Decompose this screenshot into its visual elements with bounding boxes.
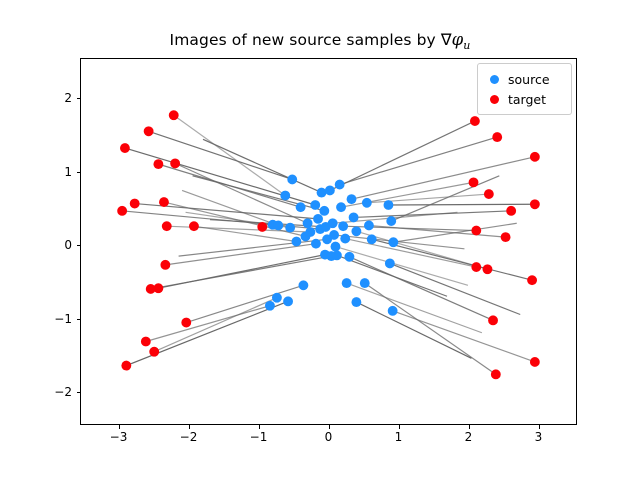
matplotlib-figure: Images of new source samples by ∇φu −3−2… [0, 0, 640, 480]
data-point-target [159, 197, 169, 207]
connection-line [390, 263, 520, 314]
data-points-layer [117, 110, 540, 379]
connection-line [391, 176, 499, 221]
connection-line [165, 244, 316, 265]
y-tickmark [77, 245, 81, 246]
x-tickmark [539, 425, 540, 429]
data-point-source [319, 206, 329, 216]
data-point-target [484, 189, 494, 199]
legend-entry-target[interactable]: target [484, 89, 564, 109]
data-point-source [388, 306, 398, 316]
data-point-target [144, 126, 154, 136]
source-marker-icon [490, 75, 499, 84]
data-point-target [141, 337, 151, 347]
data-point-source [317, 188, 327, 198]
data-point-source [305, 227, 315, 237]
y-tickmark [77, 392, 81, 393]
x-tickmark [399, 425, 400, 429]
data-point-target [527, 275, 537, 285]
data-point-source [344, 252, 354, 262]
x-tick-label: 3 [535, 430, 543, 444]
data-point-source [385, 258, 395, 268]
x-tickmark [119, 425, 120, 429]
connection-line [154, 298, 277, 352]
data-point-target [530, 199, 540, 209]
connection-line [174, 115, 286, 195]
data-point-source [298, 280, 308, 290]
data-point-target [130, 199, 140, 209]
data-point-source [351, 297, 361, 307]
target-marker-icon [490, 95, 499, 104]
data-point-target [162, 221, 172, 231]
data-point-target [488, 315, 498, 325]
data-point-target [469, 177, 479, 187]
data-point-source [367, 234, 377, 244]
data-point-target [492, 132, 502, 142]
connection-line [330, 121, 475, 190]
chart-legend[interactable]: source target [477, 63, 572, 115]
data-point-target [189, 221, 199, 231]
data-point-source [283, 296, 293, 306]
data-point-target [471, 262, 481, 272]
y-tickmark [77, 98, 81, 99]
data-point-source [311, 239, 321, 249]
y-tickmark [77, 172, 81, 173]
connection-line [347, 283, 482, 333]
data-point-source [287, 175, 297, 185]
chart-title-prefix: Images of new source samples by [170, 31, 441, 49]
data-point-target [501, 232, 511, 242]
data-point-source [351, 226, 361, 236]
data-point-source [272, 293, 282, 303]
data-point-source [362, 198, 372, 208]
connection-line [149, 131, 293, 179]
data-point-source [328, 218, 338, 228]
data-point-target [117, 206, 127, 216]
data-point-source [386, 216, 396, 226]
data-point-source [388, 237, 398, 247]
data-point-target [506, 206, 516, 216]
data-point-source [347, 194, 357, 204]
connection-line [179, 239, 328, 256]
connection-line [126, 301, 288, 365]
phi-symbol: φ [452, 30, 464, 49]
x-tick-label: 0 [325, 430, 333, 444]
data-point-target [170, 158, 180, 168]
data-point-source [310, 200, 320, 210]
connection-line [356, 302, 471, 358]
data-point-source [332, 250, 342, 260]
data-point-source [338, 221, 348, 231]
data-point-target [470, 116, 480, 126]
y-tick-label: −2 [40, 385, 72, 399]
connection-line [146, 306, 270, 342]
data-point-source [285, 223, 295, 233]
data-point-target [169, 110, 179, 120]
data-point-source [340, 234, 350, 244]
data-point-target [160, 260, 170, 270]
data-point-target [149, 347, 159, 357]
legend-entry-source[interactable]: source [484, 69, 564, 89]
data-point-source [335, 180, 345, 190]
data-point-target [120, 143, 130, 153]
data-point-source [336, 202, 346, 212]
legend-label-target: target [508, 92, 546, 107]
connection-line [388, 204, 534, 205]
data-point-target [146, 284, 156, 294]
connection-line [340, 137, 498, 184]
x-tick-label: −1 [250, 430, 268, 444]
data-point-target [153, 159, 163, 169]
data-point-target [483, 264, 493, 274]
data-point-source [313, 214, 323, 224]
x-tickmark [189, 425, 190, 429]
data-point-target [181, 318, 191, 328]
x-tickmark [469, 425, 470, 429]
data-point-source [329, 230, 339, 240]
data-point-source [296, 202, 306, 212]
data-point-source [280, 191, 290, 201]
data-point-source [349, 212, 359, 222]
data-point-target [530, 357, 540, 367]
x-tick-label: −3 [110, 430, 128, 444]
data-point-source [342, 278, 352, 288]
x-tick-label: 2 [465, 430, 473, 444]
connection-line [393, 223, 516, 242]
data-point-source [291, 237, 301, 247]
data-point-source [325, 185, 335, 195]
y-tick-label: 1 [40, 165, 72, 179]
y-tick-label: −1 [40, 312, 72, 326]
data-point-source [384, 200, 394, 210]
data-point-target [491, 369, 501, 379]
data-point-target [121, 361, 131, 371]
data-point-target [530, 152, 540, 162]
data-point-source [273, 221, 283, 231]
phi-subscript: u [463, 39, 470, 52]
nabla-icon: ∇ [441, 30, 452, 49]
x-tick-label: −2 [180, 430, 198, 444]
data-point-source [364, 221, 374, 231]
y-tick-label: 2 [40, 91, 72, 105]
data-point-target [471, 226, 481, 236]
chart-title: Images of new source samples by ∇φu [0, 30, 640, 52]
x-tick-label: 1 [395, 430, 403, 444]
connection-lines-layer [122, 115, 535, 374]
x-tickmark [329, 425, 330, 429]
y-tick-label: 0 [40, 238, 72, 252]
data-point-source [303, 218, 313, 228]
x-tickmark [259, 425, 260, 429]
data-point-source [360, 278, 370, 288]
y-tickmark [77, 319, 81, 320]
connection-line [352, 157, 535, 199]
data-point-source [331, 242, 341, 252]
data-point-target [257, 222, 267, 232]
legend-label-source: source [508, 72, 550, 87]
data-point-source [265, 301, 275, 311]
